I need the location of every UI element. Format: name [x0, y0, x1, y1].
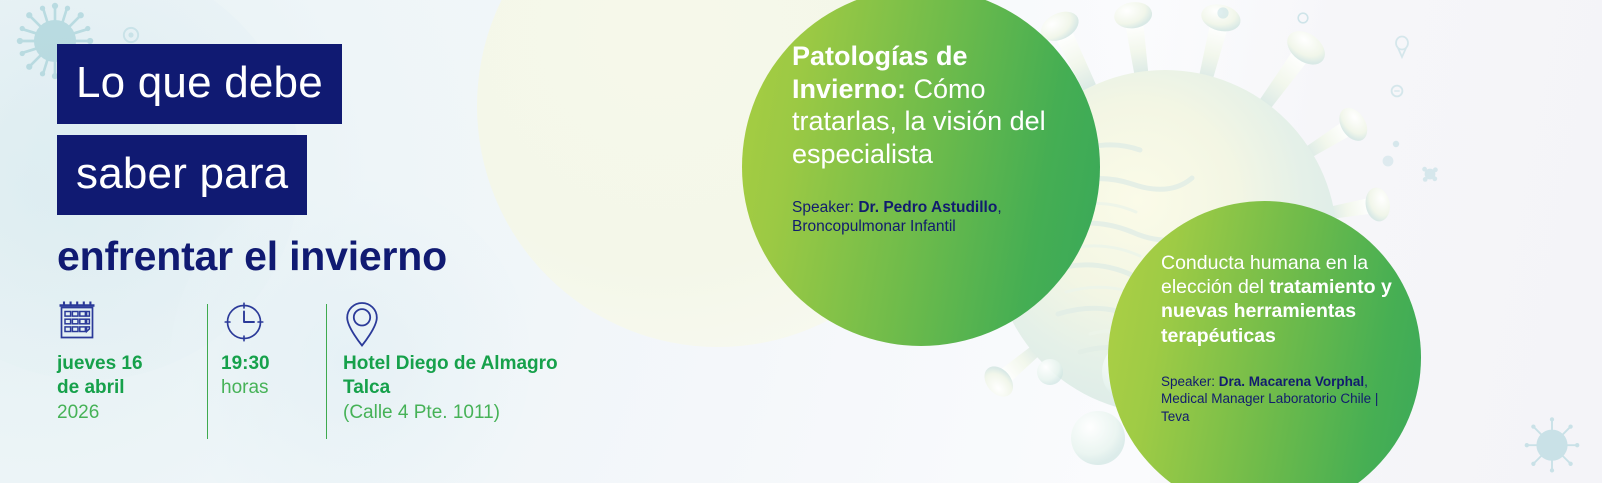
event-date-year: 2026 [57, 401, 207, 425]
headline-line2: saber para [57, 135, 307, 215]
session-2-content: Conducta humana en la elección del trata… [1161, 251, 1406, 425]
event-time-block: 19:30 horas [208, 300, 326, 401]
headline-line2-row: saber para [57, 135, 447, 215]
headline-line1-row: Lo que debe [57, 44, 447, 124]
clock-icon [221, 300, 326, 352]
headline-block: Lo que debe saber para enfrentar el invi… [57, 44, 447, 277]
microbe-icon-small-e [1388, 82, 1406, 100]
calendar-icon [57, 300, 207, 352]
microbe-icon-dot-b [1382, 155, 1394, 167]
headline-line1: Lo que debe [57, 44, 342, 124]
event-info-strip: jueves 16 de abril 2026 19:30 h [57, 300, 558, 439]
microbe-icon-small-f [1418, 162, 1442, 186]
event-place-line1: Hotel Diego de Almagro [343, 352, 558, 376]
event-banner: Lo que debe saber para enfrentar el invi… [0, 0, 1602, 483]
session-1-speaker: Speaker: Dr. Pedro Astudillo, Broncopulm… [792, 198, 1064, 237]
event-place-block: Hotel Diego de Almagro Talca (Calle 4 Pt… [327, 300, 558, 425]
session-circle-2[interactable]: Conducta humana en la elección del trata… [1108, 201, 1421, 483]
event-place-address: (Calle 4 Pte. 1011) [343, 401, 558, 425]
session-2-speaker: Speaker: Dra. Macarena Vorphal, Medical … [1161, 373, 1406, 426]
event-date-line1: jueves 16 [57, 352, 207, 376]
location-pin-icon [343, 300, 558, 352]
microbe-icon-dot-a [1392, 140, 1400, 148]
event-date-line2: de abril [57, 376, 207, 400]
microbe-icon-small-c [1295, 10, 1311, 26]
event-date-block: jueves 16 de abril 2026 [57, 300, 207, 425]
session-1-content: Patologías de Invierno: Cómo tratarlas, … [792, 40, 1064, 237]
microbe-icon-bottomright [1522, 414, 1582, 474]
event-place-line2: Talca [343, 376, 558, 400]
session-2-speaker-name: Dra. Macarena Vorphal [1219, 374, 1364, 389]
event-time-value: 19:30 [221, 352, 326, 376]
session-2-title: Conducta humana en la elección del trata… [1161, 251, 1406, 348]
headline-line3: enfrentar el invierno [57, 236, 447, 277]
session-circle-1[interactable]: Patologías de Invierno: Cómo tratarlas, … [742, 0, 1100, 346]
microbe-icon-dot-c [1216, 6, 1230, 20]
microbe-icon-small-d [1392, 33, 1412, 59]
event-time-unit: horas [221, 376, 326, 400]
session-1-title: Patologías de Invierno: Cómo tratarlas, … [792, 40, 1064, 171]
session-2-speaker-label: Speaker: [1161, 374, 1219, 389]
session-1-speaker-name: Dr. Pedro Astudillo [858, 199, 997, 216]
session-1-speaker-label: Speaker: [792, 199, 858, 216]
